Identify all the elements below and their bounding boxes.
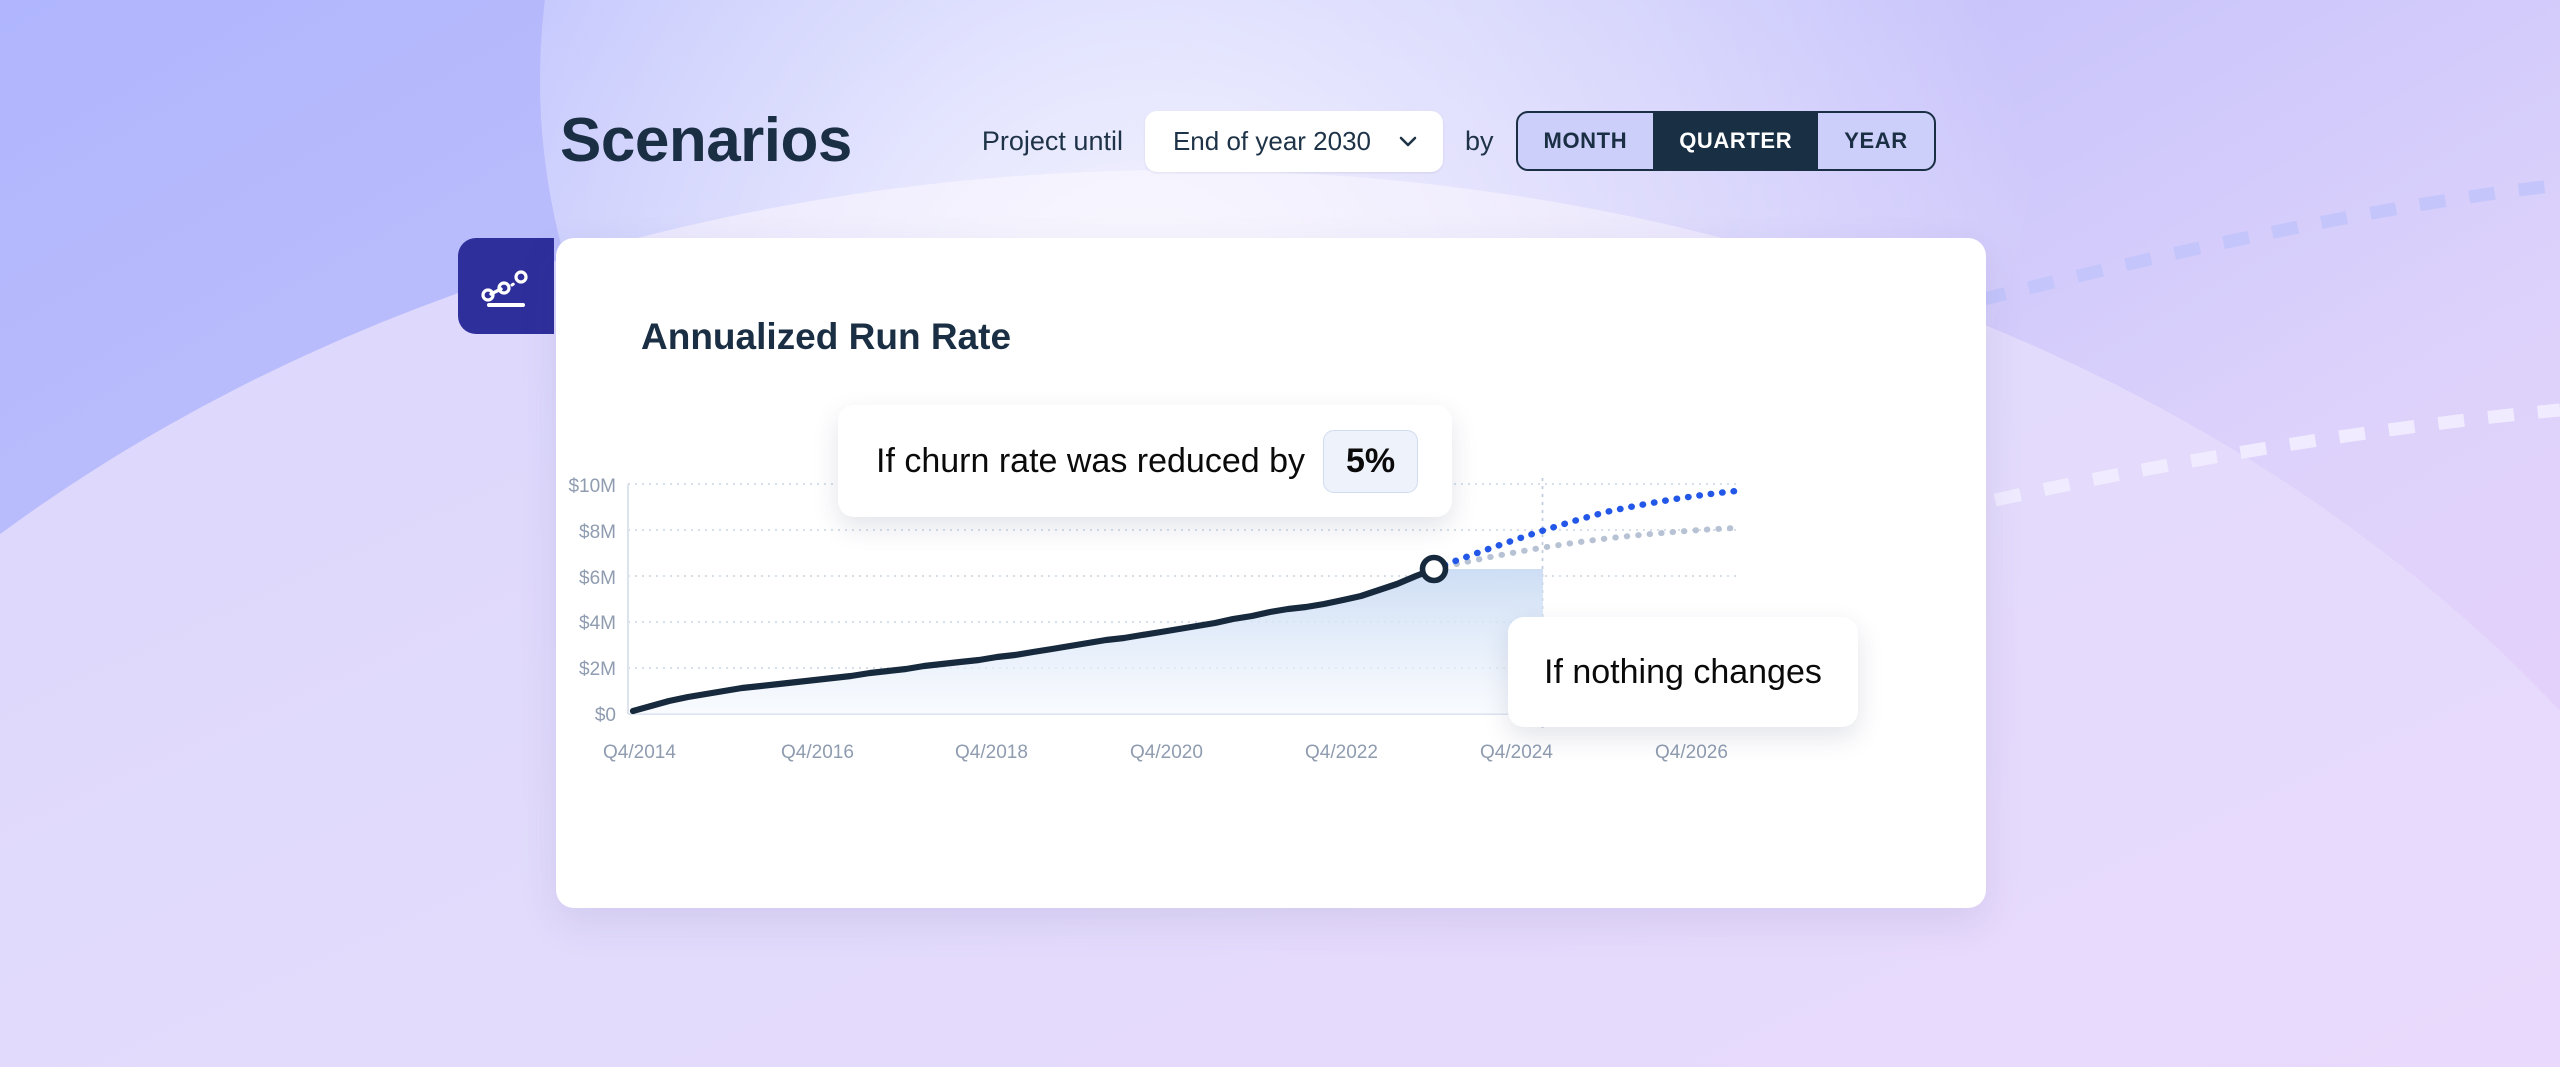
chart-title: Annualized Run Rate [641,316,1011,358]
chart-card: Annualized Run Rate $10M $8M $6M $4M $2M… [556,238,1986,908]
project-until-label: Project until [982,126,1123,157]
y-axis-tick-0: $0 [536,705,616,727]
churn-rate-input[interactable]: 5% [1323,430,1418,493]
project-until-select[interactable]: End of year 2030 [1145,111,1443,172]
y-axis-tick-2m: $2M [536,659,616,681]
y-axis-tick-4m: $4M [536,613,616,635]
chevron-down-icon [1397,130,1419,152]
churn-callout-text: If churn rate was reduced by [876,442,1305,481]
churn-scenario-callout: If churn rate was reduced by 5% [838,405,1452,517]
page-header: Scenarios Project until End of year 2030… [0,86,2560,196]
split-point-marker[interactable] [1423,558,1446,581]
y-axis-tick-10m: $10M [536,476,616,498]
x-axis-tick-5: Q4/2022 [1305,742,1378,764]
line-chart-icon-badge [458,238,554,334]
granularity-option-month[interactable]: MONTH [1518,113,1654,169]
y-axis-tick-6m: $6M [536,568,616,590]
page-title: Scenarios [560,110,852,172]
x-axis-tick-3: Q4/2018 [955,742,1028,764]
header-controls: Project until End of year 2030 by MONTH … [982,111,1936,172]
line-chart-icon [478,258,534,314]
baseline-projection-line [1434,528,1736,569]
x-axis-tick-6: Q4/2024 [1480,742,1553,764]
x-axis-tick-7: Q4/2026 [1655,742,1728,764]
by-label: by [1465,126,1494,157]
granularity-option-quarter[interactable]: QUARTER [1653,113,1818,169]
baseline-callout-text: If nothing changes [1544,653,1822,692]
project-until-value: End of year 2030 [1173,126,1371,157]
granularity-option-year[interactable]: YEAR [1818,113,1934,169]
x-axis-tick-2: Q4/2016 [781,742,854,764]
y-axis-tick-8m: $8M [536,522,616,544]
granularity-segmented-control: MONTH QUARTER YEAR [1516,111,1936,171]
baseline-scenario-callout: If nothing changes [1508,617,1858,727]
x-axis-tick-4: Q4/2020 [1130,742,1203,764]
x-axis-tick-1: Q4/2014 [603,742,676,764]
